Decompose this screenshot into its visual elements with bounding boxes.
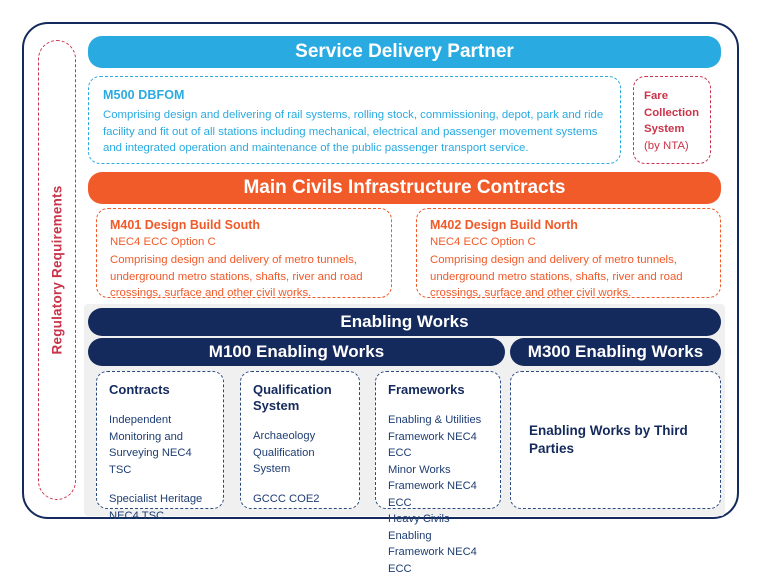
m401-design-build-south-box: M401 Design Build South NEC4 ECC Option … <box>96 208 392 298</box>
m500-body: Comprising design and delivering of rail… <box>103 107 606 157</box>
contracts-column: Contracts Independent Monitoring and Sur… <box>96 371 224 509</box>
list-item: Monitoring and <box>109 429 211 446</box>
spacer <box>253 478 347 491</box>
m402-design-build-north-box: M402 Design Build North NEC4 ECC Option … <box>416 208 721 298</box>
list-item: GCCC COE2 <box>253 491 347 508</box>
qualification-group-b: GCCC COE2 <box>253 491 347 508</box>
list-item: Qualification <box>253 445 347 462</box>
contracts-group-a: Independent Monitoring and Surveying NEC… <box>109 412 211 478</box>
qualification-system-column: Qualification System Archaeology Qualifi… <box>240 371 360 509</box>
m402-subtitle: NEC4 ECC Option C <box>430 234 707 250</box>
main-civils-banner: Main Civils Infrastructure Contracts <box>88 172 721 204</box>
fare-collection-title: Fare Collection System <box>644 88 710 138</box>
m401-body: Comprising design and delivery of metro … <box>110 252 378 302</box>
list-item: Framework NEC4 ECC <box>388 429 488 462</box>
regulatory-requirements-label: Regulatory Requirements <box>50 186 65 355</box>
m500-dbfom-box: M500 DBFOM Comprising design and deliver… <box>88 76 621 164</box>
list-item: Surveying NEC4 TSC <box>109 445 211 478</box>
spacer <box>109 478 211 491</box>
service-delivery-partner-banner: Service Delivery Partner <box>88 36 721 68</box>
list-item: Heavy Civils Enabling <box>388 511 488 544</box>
third-parties-label: Enabling Works by Third Parties <box>529 422 702 458</box>
frameworks-group-a: Enabling & Utilities Framework NEC4 ECC … <box>388 412 488 577</box>
m401-subtitle: NEC4 ECC Option C <box>110 234 378 250</box>
list-item: NEC4 TSC <box>109 508 211 525</box>
m100-enabling-works-banner: M100 Enabling Works <box>88 338 505 366</box>
regulatory-requirements-rail: Regulatory Requirements <box>38 40 76 500</box>
m402-title: M402 Design Build North <box>430 218 707 232</box>
list-item: Minor Works <box>388 462 488 479</box>
frameworks-title: Frameworks <box>388 382 488 398</box>
fare-collection-subtitle: (by NTA) <box>644 138 710 155</box>
m300-enabling-works-banner: M300 Enabling Works <box>510 338 721 366</box>
diagram-canvas: Regulatory Requirements Service Delivery… <box>0 0 763 539</box>
contracts-group-b: Specialist Heritage NEC4 TSC <box>109 491 211 524</box>
list-item: Framework NEC4 ECC <box>388 478 488 511</box>
list-item: Enabling & Utilities <box>388 412 488 429</box>
qualification-group-a: Archaeology Qualification System <box>253 428 347 478</box>
enabling-works-banner: Enabling Works <box>88 308 721 336</box>
list-item: Independent <box>109 412 211 429</box>
contracts-title: Contracts <box>109 382 211 398</box>
m402-body: Comprising design and delivery of metro … <box>430 252 707 302</box>
list-item: Archaeology <box>253 428 347 445</box>
list-item: Framework NEC4 ECC <box>388 544 488 577</box>
frameworks-column: Frameworks Enabling & Utilities Framewor… <box>375 371 501 509</box>
fare-collection-system-box: Fare Collection System (by NTA) <box>633 76 711 164</box>
third-parties-box: Enabling Works by Third Parties <box>510 371 721 509</box>
m401-title: M401 Design Build South <box>110 218 378 232</box>
list-item: System <box>253 461 347 478</box>
qualification-system-title: Qualification System <box>253 382 347 414</box>
m500-title: M500 DBFOM <box>103 88 606 102</box>
list-item: Specialist Heritage <box>109 491 211 508</box>
